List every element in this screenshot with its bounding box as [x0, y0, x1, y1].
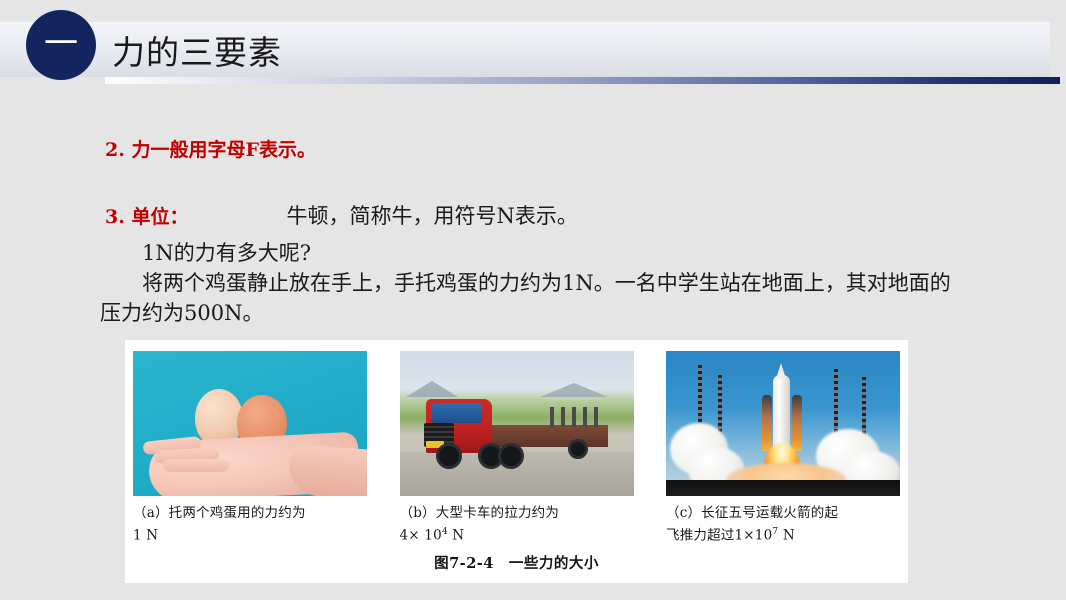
caption-b-line2: 4× 10 — [400, 528, 442, 544]
mountain-left — [406, 381, 458, 397]
figure-image-row — [133, 351, 900, 496]
section-number-badge: 一 — [26, 10, 96, 80]
figure-caption-c: （c）长征五号运载火箭的起 飞推力超过1×107 N — [666, 504, 900, 546]
truck-wheel-3 — [498, 443, 524, 469]
rocket-booster-left — [762, 395, 772, 451]
truck-windshield — [432, 403, 482, 423]
header-underline-rule — [105, 77, 1060, 84]
explanation-text: 将两个鸡蛋静止放在手上，手托鸡蛋的力约为1N。一名中学生站在地面上，其对地面的压… — [100, 268, 970, 328]
caption-c-line1: （c）长征五号运载火箭的起 — [666, 505, 838, 521]
large-truck-photo — [400, 351, 634, 496]
unit-label: 3. 单位： — [105, 202, 188, 229]
question-line: 1N的力有多大呢? — [100, 238, 970, 268]
figure-panel-a — [133, 351, 367, 496]
unit-value: 牛顿，简称牛，用符号N表示。 — [286, 200, 577, 230]
finger-3 — [163, 459, 229, 472]
caption-c-unit: N — [778, 528, 795, 544]
caption-b-unit: N — [448, 528, 465, 544]
explanation-paragraph: 1N的力有多大呢? 将两个鸡蛋静止放在手上，手托鸡蛋的力约为1N。一名中学生站在… — [100, 238, 970, 328]
bullet-point-3: 3. 单位： 牛顿，简称牛，用符号N表示。 — [105, 200, 578, 230]
figure-caption-a: （a）托两个鸡蛋用的力约为 1 N — [133, 504, 367, 546]
rocket-nose-cone — [776, 363, 786, 379]
mountain-right — [540, 383, 608, 397]
launch-pad-ground — [666, 480, 900, 496]
figure-panel-b — [400, 351, 634, 496]
long-march-5-rocket-launch-photo — [666, 351, 900, 496]
figure-panel-c — [666, 351, 900, 496]
bullet-point-2: 2. 力一般用字母F表示。 — [105, 135, 316, 162]
figure-caption-b: （b）大型卡车的拉力约为 4× 104 N — [400, 504, 634, 546]
caption-a-line1: （a）托两个鸡蛋用的力约为 — [133, 505, 306, 521]
caption-c-line2: 飞推力超过1×10 — [666, 528, 772, 544]
figure-card: （a）托两个鸡蛋用的力约为 1 N （b）大型卡车的拉力约为 4× 104 N … — [125, 340, 908, 583]
hand-holding-two-eggs-photo — [133, 351, 367, 496]
truck-wheel-1 — [436, 443, 462, 469]
rocket-booster-right — [792, 395, 802, 451]
truck-wheel-4 — [568, 439, 588, 459]
section-number-label: 一 — [44, 27, 78, 61]
hand-wrist — [287, 444, 367, 496]
caption-b-line1: （b）大型卡车的拉力约为 — [400, 505, 560, 521]
trailer-rails — [550, 407, 602, 427]
figure-title: 图7-2-4 一些力的大小 — [125, 552, 908, 573]
slide-canvas: 一 力的三要素 2. 力一般用字母F表示。 3. 单位： 牛顿，简称牛，用符号N… — [0, 0, 1066, 600]
page-title: 力的三要素 — [112, 22, 282, 77]
figure-captions-row: （a）托两个鸡蛋用的力约为 1 N （b）大型卡车的拉力约为 4× 104 N … — [133, 504, 900, 546]
caption-a-line2: 1 N — [133, 528, 158, 544]
